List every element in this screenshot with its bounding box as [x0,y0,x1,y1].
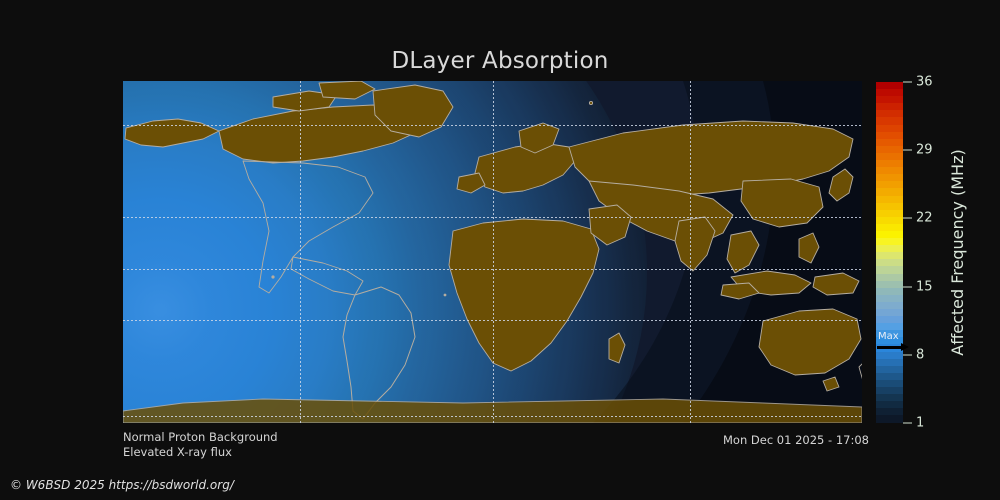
tick-mark-icon [903,218,912,219]
colorbar-tick-label: 22 [916,212,933,225]
tick-mark-icon [903,354,912,355]
colorbar-tick-label: 15 [916,280,933,293]
colorbar-tick-label: 36 [916,76,933,89]
colorbar-segment [876,96,903,103]
colorbar-segment [876,394,903,401]
colorbar-segment [876,203,903,210]
colorbar-segment [876,132,903,139]
colorbar-segment [876,309,903,316]
dlayer-absorption-app: DLayer Absorption [0,0,1000,500]
colorbar-segment [876,117,903,124]
colorbar-segment [876,210,903,217]
colorbar-segment [876,316,903,323]
colorbar-tick: 22 [903,212,933,225]
colorbar-segment [876,103,903,110]
colorbar-segment [876,302,903,309]
colorbar-tick: 29 [903,144,933,157]
colorbar-segment [876,380,903,387]
colorbar-segment [876,139,903,146]
colorbar-segment [876,359,903,366]
colorbar-segment [876,387,903,394]
copyright: © W6BSD 2025 https://bsdworld.org/ [10,478,234,492]
colorbar-segment [876,281,903,288]
colorbar-segment [876,266,903,273]
colorbar-segment [876,167,903,174]
colorbar-segment [876,196,903,203]
colorbar[interactable] [876,82,903,423]
colorbar-segment [876,259,903,266]
timestamp: Mon Dec 01 2025 - 17:08 [723,433,869,447]
colorbar-tick-label: 1 [916,417,924,430]
page-title: DLayer Absorption [0,48,1000,74]
colorbar-tick: 15 [903,280,933,293]
colorbar-segment [876,160,903,167]
colorbar-segment [876,415,903,422]
colorbar-segment [876,245,903,252]
colorbar-segment [876,125,903,132]
colorbar-segment [876,366,903,373]
colorbar-segment [876,89,903,96]
colorbar-segment [876,238,903,245]
colorbar-segment [876,188,903,195]
colorbar-segment [876,401,903,408]
colorbar-segment [876,231,903,238]
colorbar-segment [876,181,903,188]
colorbar-segment [876,252,903,259]
tick-mark-icon [903,286,912,287]
colorbar-segment [876,373,903,380]
colorbar-tick: 36 [903,76,933,89]
colorbar-axis-label: Affected Frequency (MHz) [944,82,971,423]
colorbar-segment [876,408,903,415]
colorbar-segment [876,274,903,281]
tick-mark-icon [903,423,912,424]
map-canvas [123,81,862,423]
max-arrow-icon [876,343,928,352]
colorbar-max-label: Max [876,332,928,342]
colorbar-segment [876,82,903,89]
colorbar-segment [876,295,903,302]
world-map[interactable] [123,81,862,423]
colorbar-segment [876,217,903,224]
status-note-xray: Elevated X-ray flux [123,445,232,459]
colorbar-segment [876,174,903,181]
colorbar-max-marker: Max [876,332,928,354]
colorbar-segment [876,224,903,231]
colorbar-segment [876,146,903,153]
colorbar-segment [876,153,903,160]
colorbar-tick-label: 29 [916,144,933,157]
colorbar-segment [876,323,903,330]
colorbar-tick: 1 [903,417,924,430]
tick-mark-icon [903,82,912,83]
tick-mark-icon [903,150,912,151]
status-note-proton: Normal Proton Background [123,430,278,444]
colorbar-segment [876,288,903,295]
colorbar-segment [876,110,903,117]
